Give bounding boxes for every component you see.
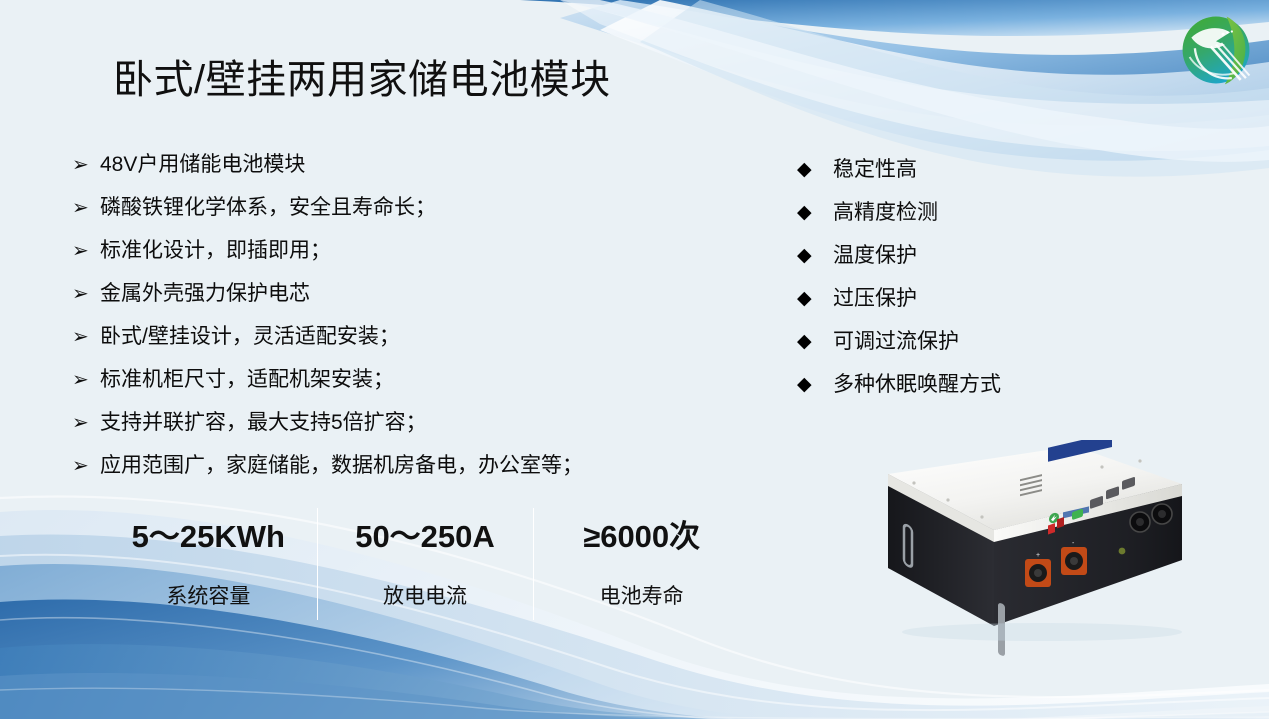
list-item-label: 温度保护 — [833, 241, 917, 270]
list-item: ➢ 48V户用储能电池模块 — [72, 150, 712, 193]
list-item: ◆ 温度保护 — [797, 241, 1077, 284]
arrow-bullet-icon: ➢ — [72, 451, 100, 481]
stats-strip: 5～25KWh 系统容量 50～250A 放电电流 ≥6000次 电池寿命 — [100, 516, 750, 628]
list-item: ◆ 过压保护 — [797, 284, 1077, 327]
left-feature-list: ➢ 48V户用储能电池模块 ➢ 磷酸铁锂化学体系，安全且寿命长； ➢ 标准化设计… — [72, 150, 712, 494]
list-item: ➢ 标准化设计，即插即用； — [72, 236, 712, 279]
stat-label: 系统容量 — [100, 583, 317, 611]
arrow-bullet-icon: ➢ — [72, 408, 100, 438]
stat-value: 5～25KWh — [100, 516, 317, 558]
list-item: ◆ 稳定性高 — [797, 155, 1077, 198]
diamond-bullet-icon: ◆ — [797, 198, 833, 227]
list-item: ➢ 应用范围广，家庭储能，数据机房备电，办公室等； — [72, 451, 712, 494]
svg-text:+: + — [1036, 552, 1040, 559]
stat-discharge-current: 50～250A 放电电流 — [317, 516, 534, 628]
page-title: 卧式/壁挂两用家储电池模块 — [113, 56, 611, 104]
list-item-label: 应用范围广，家庭储能，数据机房备电，办公室等； — [100, 451, 583, 481]
diamond-bullet-icon: ◆ — [797, 370, 833, 399]
list-item-label: 可调过流保护 — [833, 327, 959, 356]
slide-canvas: 卧式/壁挂两用家储电池模块 ➢ 48V户用储能电池模块 ➢ 磷酸铁锂化学体系，安… — [0, 0, 1269, 719]
battery-module-illustration: + - — [852, 440, 1204, 660]
diamond-bullet-icon: ◆ — [797, 284, 833, 313]
list-item-label: 多种休眠唤醒方式 — [833, 370, 1001, 399]
list-item-label: 标准机柜尺寸，适配机架安装； — [100, 365, 394, 395]
stat-value: 50～250A — [317, 516, 534, 558]
list-item-label: 高精度检测 — [833, 198, 938, 227]
list-item: ➢ 标准机柜尺寸，适配机架安装； — [72, 365, 712, 408]
list-item-label: 48V户用储能电池模块 — [100, 150, 305, 180]
arrow-bullet-icon: ➢ — [72, 193, 100, 223]
list-item-label: 支持并联扩容，最大支持5倍扩容； — [100, 408, 427, 438]
diamond-bullet-icon: ◆ — [797, 327, 833, 356]
list-item: ◆ 多种休眠唤醒方式 — [797, 370, 1077, 413]
stat-capacity: 5～25KWh 系统容量 — [100, 516, 317, 628]
arrow-bullet-icon: ➢ — [72, 365, 100, 395]
company-logo — [1172, 6, 1260, 94]
list-item: ◆ 可调过流保护 — [797, 327, 1077, 370]
stat-cycle-life: ≥6000次 电池寿命 — [533, 516, 750, 628]
diamond-bullet-icon: ◆ — [797, 241, 833, 270]
arrow-bullet-icon: ➢ — [72, 150, 100, 180]
arrow-bullet-icon: ➢ — [72, 279, 100, 309]
list-item-label: 标准化设计，即插即用； — [100, 236, 331, 266]
stat-label: 放电电流 — [317, 583, 534, 611]
logo-mark-icon — [1172, 6, 1260, 94]
list-item: ➢ 磷酸铁锂化学体系，安全且寿命长； — [72, 193, 712, 236]
stat-label: 电池寿命 — [533, 583, 750, 611]
list-item: ➢ 支持并联扩容，最大支持5倍扩容； — [72, 408, 712, 451]
list-item-label: 卧式/壁挂设计，灵活适配安装； — [100, 322, 400, 352]
list-item-label: 过压保护 — [833, 284, 917, 313]
arrow-bullet-icon: ➢ — [72, 236, 100, 266]
arrow-bullet-icon: ➢ — [72, 322, 100, 352]
battery-module-photo: + - — [852, 440, 1204, 660]
right-feature-list: ◆ 稳定性高 ◆ 高精度检测 ◆ 温度保护 ◆ 过压保护 ◆ 可调过流保护 ◆ … — [797, 155, 1077, 413]
list-item: ➢ 金属外壳强力保护电芯 — [72, 279, 712, 322]
list-item: ➢ 卧式/壁挂设计，灵活适配安装； — [72, 322, 712, 365]
list-item-label: 磷酸铁锂化学体系，安全且寿命长； — [100, 193, 436, 223]
list-item-label: 金属外壳强力保护电芯 — [100, 279, 310, 309]
diamond-bullet-icon: ◆ — [797, 155, 833, 184]
list-item-label: 稳定性高 — [833, 155, 917, 184]
list-item: ◆ 高精度检测 — [797, 198, 1077, 241]
stat-value: ≥6000次 — [533, 516, 750, 558]
